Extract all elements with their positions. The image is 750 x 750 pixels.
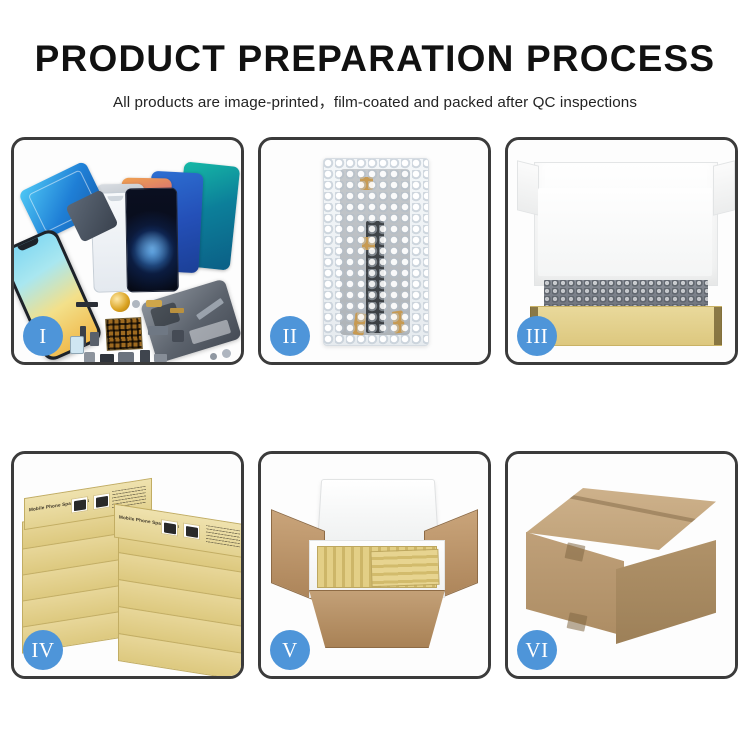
step-badge-5: V [270, 630, 310, 670]
step-badge-3: III [517, 316, 557, 356]
page-title: PRODUCT PREPARATION PROCESS [0, 0, 750, 79]
carton-front-panel [309, 590, 445, 648]
screw [222, 349, 231, 358]
process-step-panel-1[interactable]: I [11, 137, 244, 365]
spare-part [154, 354, 167, 362]
protective-tab [360, 177, 373, 190]
gold-coil-component [110, 292, 130, 312]
carton-right-face [616, 540, 716, 644]
process-step-panel-6[interactable]: VI [505, 451, 738, 679]
process-step-panel-4[interactable]: Mobile Phone Spare Parts Mobile Phone Sp… [11, 451, 244, 679]
spare-part [140, 350, 150, 362]
page-header: PRODUCT PREPARATION PROCESS All products… [0, 0, 750, 112]
box-label-window [93, 493, 110, 511]
spare-part [100, 354, 114, 362]
carton-tape-patch [567, 612, 588, 631]
box-label-window [183, 522, 200, 540]
spare-part [90, 332, 99, 346]
spare-part [76, 302, 98, 307]
process-step-panel-2[interactable]: II [258, 137, 491, 365]
foam-insert [538, 188, 712, 276]
chip-contact-grid [105, 317, 143, 351]
step-badge-6: VI [517, 630, 557, 670]
step-badge-2: II [270, 316, 310, 356]
step-badge-4: IV [23, 630, 63, 670]
lcd-display-assembly [125, 188, 179, 293]
carton-seam [555, 492, 703, 525]
process-step-panel-5[interactable]: V [258, 451, 491, 679]
box-label-window [161, 519, 178, 537]
spare-part [172, 330, 184, 342]
spare-part [70, 336, 84, 354]
carton-tape-patch [565, 542, 586, 561]
box-label-specs-lines [206, 525, 240, 548]
kraft-box-base [530, 306, 722, 346]
packed-retail-boxes-secondary [370, 549, 439, 587]
process-steps-grid: I II III [11, 137, 739, 679]
spare-part [118, 352, 134, 362]
protective-tab [391, 310, 405, 333]
box-label-window [71, 496, 88, 514]
spare-part [148, 326, 168, 335]
sealed-shipping-carton [522, 488, 720, 642]
page-subtitle: All products are image-printed，film-coat… [0, 79, 750, 112]
phone-notch [17, 237, 40, 252]
protective-tab [352, 312, 366, 335]
spare-part [84, 352, 95, 362]
step-badge-1: I [23, 316, 63, 356]
screw [210, 353, 217, 360]
spare-part [170, 308, 184, 313]
spare-part [146, 300, 162, 307]
foam-cooler-lid [317, 479, 440, 549]
process-step-panel-3[interactable]: III [505, 137, 738, 365]
spare-part [132, 300, 140, 308]
bubble-wrap-bag [323, 158, 429, 346]
protective-tab [362, 237, 375, 250]
